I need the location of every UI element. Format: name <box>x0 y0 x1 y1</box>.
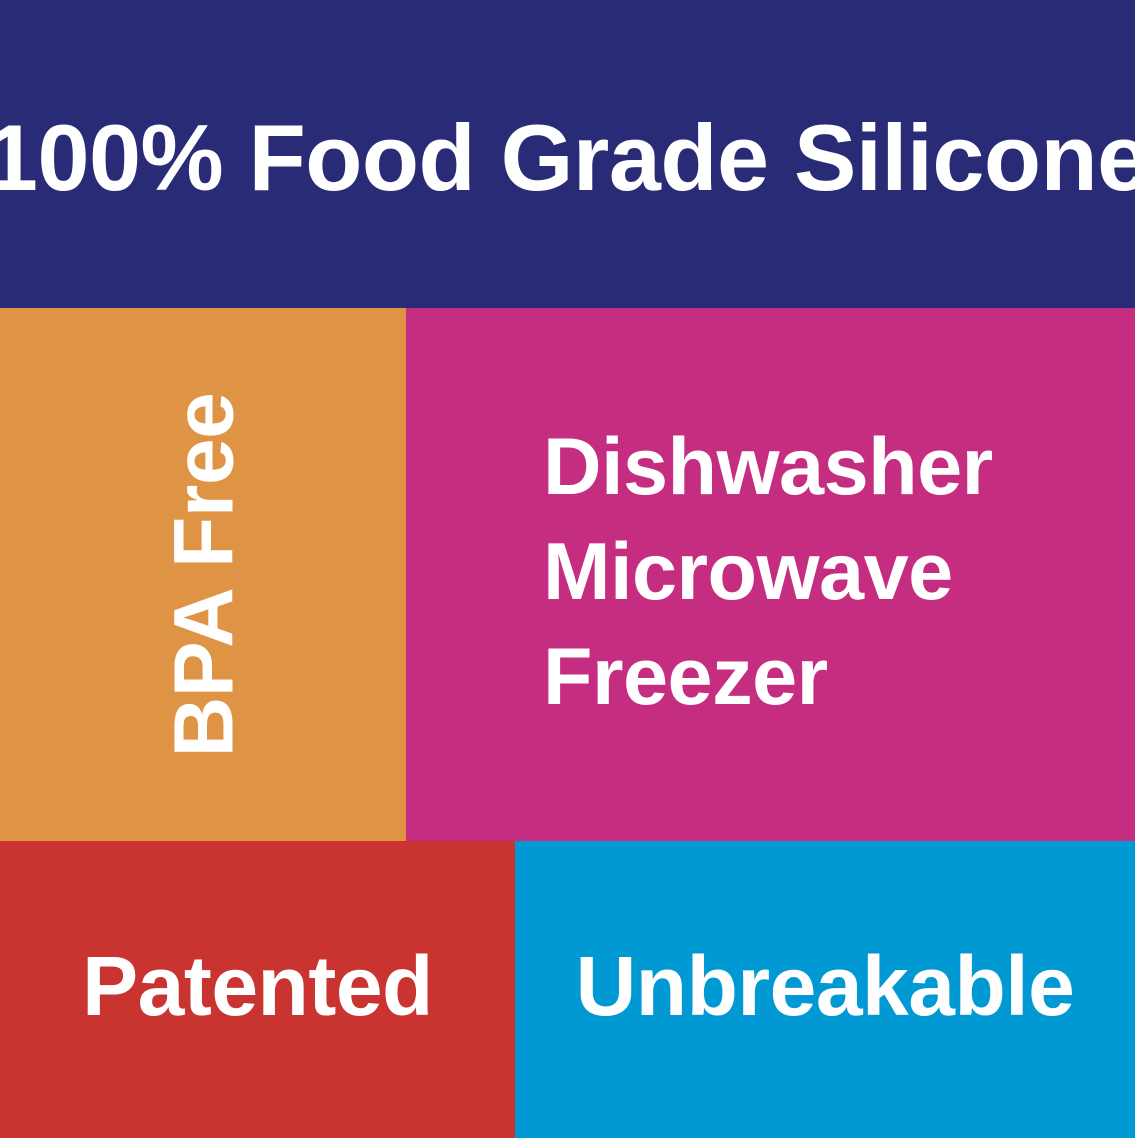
panel-appliance-safe: Dishwasher Microwave Freezer <box>406 308 1135 841</box>
patented-label: Patented <box>82 944 433 1028</box>
panel-patented: Patented <box>0 841 515 1138</box>
panel-unbreakable: Unbreakable <box>515 841 1135 1138</box>
unbreakable-label: Unbreakable <box>576 944 1075 1028</box>
appliance-line-freezer: Freezer <box>543 625 1135 730</box>
panel-food-grade-silicone: 100% Food Grade Silicone <box>0 0 1135 308</box>
bpa-free-label: BPA Free <box>161 392 245 757</box>
headline-label: 100% Food Grade Silicone <box>0 111 1135 205</box>
appliance-line-microwave: Microwave <box>543 520 1135 625</box>
panel-bpa-free: BPA Free <box>0 308 406 841</box>
feature-badge-grid: 100% Food Grade Silicone BPA Free Dishwa… <box>0 0 1135 1138</box>
appliance-line-dishwasher: Dishwasher <box>543 415 1135 520</box>
